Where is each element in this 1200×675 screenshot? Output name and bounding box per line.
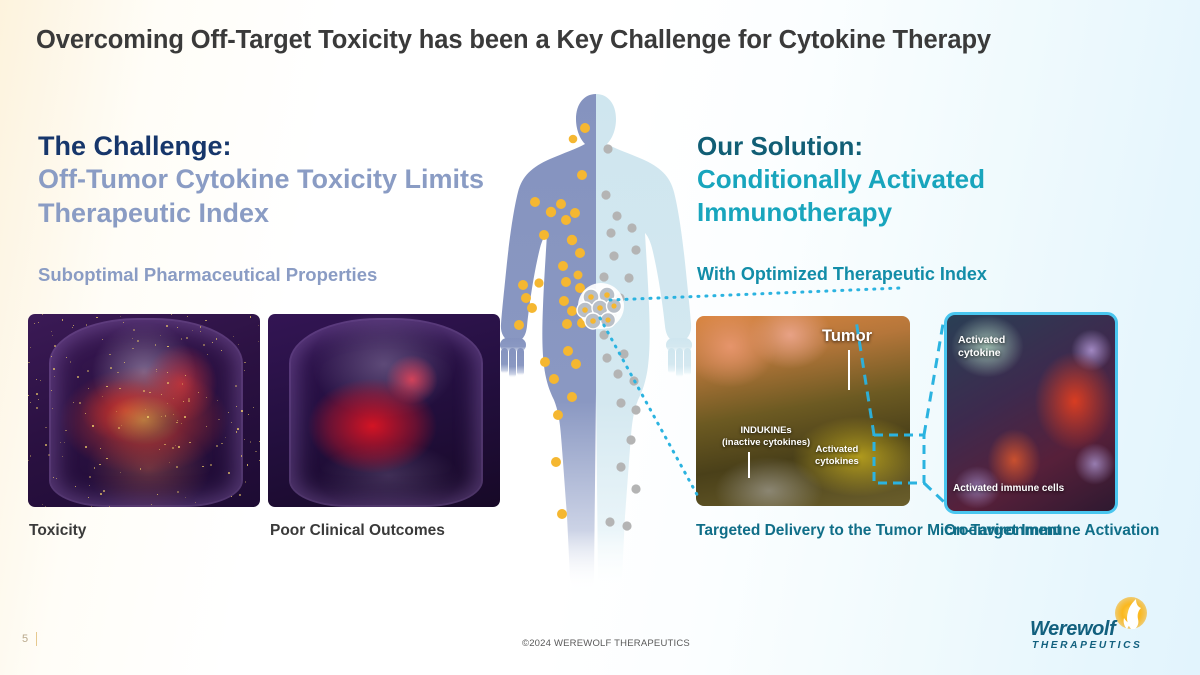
challenge-heading-block: The Challenge: Off-Tumor Cytokine Toxici… xyxy=(38,130,528,230)
human-body-figure xyxy=(488,92,704,592)
poor-outcomes-image xyxy=(268,314,500,507)
challenge-subheading: Suboptimal Pharmaceutical Properties xyxy=(38,264,377,286)
indukines-label: INDUKINEs (inactive cytokines) xyxy=(722,425,810,448)
right-hand xyxy=(666,338,692,378)
indukines-label-line2: (inactive cytokines) xyxy=(722,437,810,449)
body-right-half xyxy=(501,94,691,590)
activated-cytokines-label-line1: Activated xyxy=(815,444,859,456)
magnifier-line-bottom xyxy=(924,483,944,502)
magnifier-line-top xyxy=(924,318,944,435)
solution-heading-secondary: Conditionally Activated Immunotherapy xyxy=(697,163,1097,229)
page-number: 5 xyxy=(22,633,28,645)
page-number-divider xyxy=(36,632,37,646)
page-title: Overcoming Off-Target Toxicity has been … xyxy=(36,26,991,55)
tumor-label: Tumor xyxy=(822,327,872,346)
tumor-leader-line xyxy=(848,350,850,390)
activated-cytokines-label: Activated cytokines xyxy=(815,444,859,467)
toxicity-image-caption: Toxicity xyxy=(29,522,86,540)
activated-cytokine-label-line1: Activated xyxy=(958,334,1005,347)
challenge-heading-secondary: Off-Tumor Cytokine Toxicity Limits Thera… xyxy=(38,163,528,230)
activated-cytokines-label-line2: cytokines xyxy=(815,456,859,468)
activated-cytokine-label-line2: cytokine xyxy=(958,347,1005,360)
challenge-heading-primary: The Challenge: xyxy=(38,130,528,163)
slide-root: Overcoming Off-Target Toxicity has been … xyxy=(0,0,1200,675)
solution-heading-primary: Our Solution: xyxy=(697,130,1097,163)
solution-subheading: With Optimized Therapeutic Index xyxy=(697,264,987,285)
solution-heading-block: Our Solution: Conditionally Activated Im… xyxy=(697,130,1097,228)
on-target-activation-caption: On-Target Immune Activation xyxy=(944,521,1159,541)
tumor-microenvironment-image xyxy=(696,316,910,506)
indukines-label-line1: INDUKINEs xyxy=(722,425,810,437)
werewolf-logo: Werewolf THERAPEUTICS xyxy=(1028,596,1168,658)
activated-immune-cells-label: Activated immune cells xyxy=(953,483,1064,494)
poor-outcomes-image-caption: Poor Clinical Outcomes xyxy=(270,522,445,540)
toxicity-image xyxy=(28,314,260,507)
logo-tagline: THERAPEUTICS xyxy=(1032,640,1142,651)
cytokine-speckles xyxy=(28,314,260,507)
copyright-notice: ©2024 WEREWOLF THERAPEUTICS xyxy=(522,638,690,649)
body-silhouette-svg xyxy=(488,92,704,592)
torso-outline-overlay xyxy=(289,318,483,507)
logo-wordmark: Werewolf xyxy=(1030,618,1115,641)
left-hand xyxy=(500,338,526,378)
activated-cytokine-label: Activated cytokine xyxy=(958,334,1005,359)
indukines-leader-line xyxy=(748,452,750,478)
